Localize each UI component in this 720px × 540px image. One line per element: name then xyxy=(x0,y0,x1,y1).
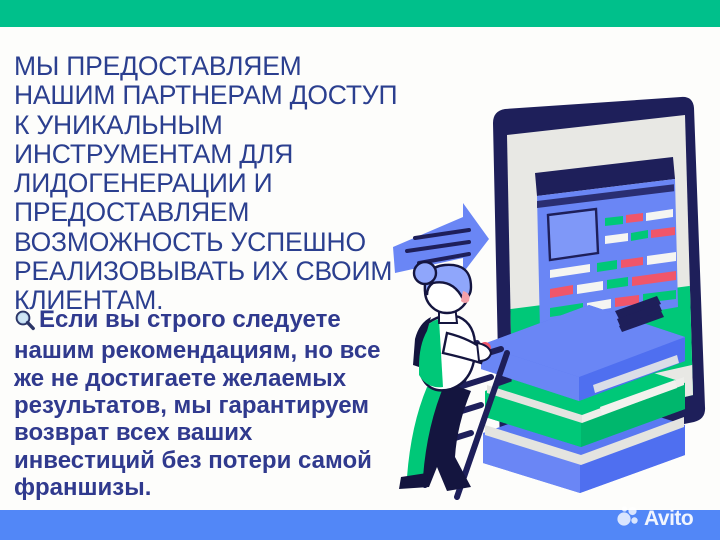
magnifier-icon xyxy=(14,309,36,337)
avito-watermark: Avito xyxy=(616,503,716,533)
motion-arrow xyxy=(393,203,489,273)
bottom-brand-bar xyxy=(0,510,720,540)
body-paragraph: Если вы строго следуете нашим рекомендац… xyxy=(14,306,392,502)
avito-dots-icon xyxy=(616,504,640,533)
top-brand-bar xyxy=(0,0,720,27)
body-paragraph-text: Если вы строго следуете нашим рекомендац… xyxy=(14,306,381,501)
avito-wordmark: Avito xyxy=(644,508,693,529)
tablet-books-ladder-illustration xyxy=(385,95,720,505)
page-title: МЫ ПРЕДОСТАВЛЯЕМ НАШИМ ПАРТНЕРАМ ДОСТУП … xyxy=(14,52,406,316)
slide-canvas: МЫ ПРЕДОСТАВЛЯЕМ НАШИМ ПАРТНЕРАМ ДОСТУП … xyxy=(0,0,720,540)
